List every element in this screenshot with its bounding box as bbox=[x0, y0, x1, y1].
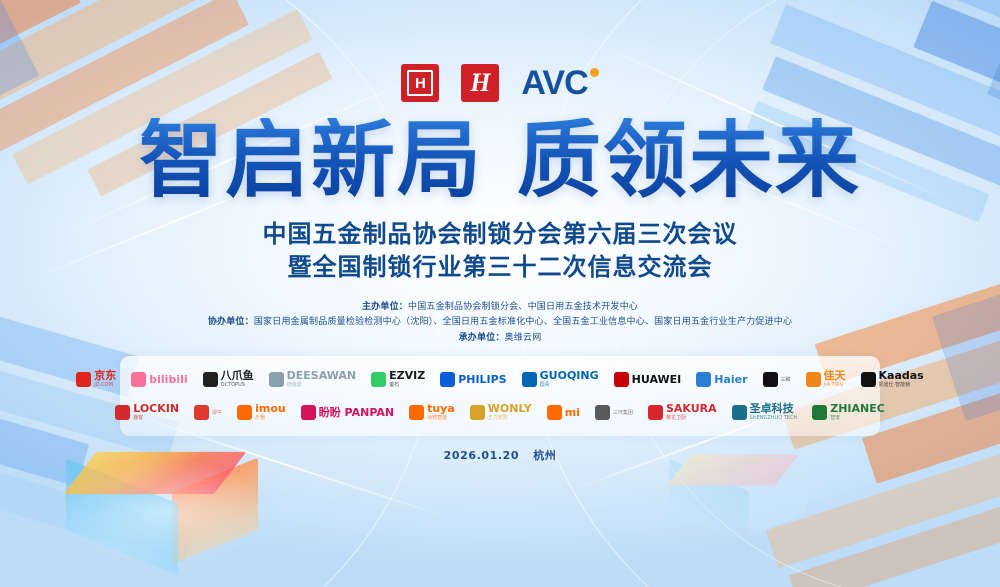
panpan-mark-icon bbox=[301, 405, 316, 420]
ximao-logo-text: 犀牛 bbox=[212, 409, 222, 416]
jiatian-logo-wordmark: 佳天 bbox=[824, 370, 846, 381]
haier-logo-wordmark: Haier bbox=[714, 374, 747, 385]
avc-logo-text: AVC bbox=[521, 66, 587, 100]
hardware-logo: H bbox=[461, 64, 499, 102]
lockin-logo-wordmark: LOCKIN bbox=[133, 403, 179, 414]
guoqing-logo-text: GUOQING国青 bbox=[540, 370, 599, 388]
sanhuan-logo-subtext: 三环集团 bbox=[613, 411, 633, 416]
huawei-logo-text: HUAWEI bbox=[632, 374, 682, 385]
lockin-logo-subtext: 鹿客 bbox=[133, 416, 179, 421]
shengzhuo-mark-icon bbox=[732, 405, 747, 420]
jiatian-logo-subtext: JIA TIAN bbox=[824, 383, 846, 388]
imou-logo-subtext: 乐橙 bbox=[255, 416, 286, 421]
poster-content: H AVC 智启新局质领未来 中国五金制品协会制锁分会第六届三次会议 暨全国制锁… bbox=[0, 0, 1000, 587]
jingdong-logo-text: 京东JD.COM bbox=[94, 370, 116, 388]
guoqing-logo-subtext: 国青 bbox=[540, 383, 599, 388]
panpan-logo-text: 盼盼 PANPAN bbox=[319, 407, 394, 418]
sanhuan-logo-text: 三环集团 bbox=[613, 409, 633, 416]
title-part-1: 智启新局 bbox=[139, 111, 483, 209]
organizer-coorg-line: 协办单位：国家日用金属制品质量检验检测中心（沈阳）、全国日用五金标准化中心、全国… bbox=[0, 315, 1000, 330]
organizer-coorg-label: 协办单位： bbox=[208, 317, 254, 327]
organizer-host-label: 主办单位： bbox=[362, 302, 408, 312]
zhianec-logo: ZHIANEC智安 bbox=[812, 403, 885, 421]
imou-logo-wordmark: imou bbox=[255, 403, 286, 414]
imou-logo-text: imou乐橙 bbox=[255, 403, 286, 421]
jingdong-logo-wordmark: 京东 bbox=[94, 370, 116, 381]
subtitle-line-1: 中国五金制品协会制锁分会第六届三次会议 bbox=[0, 218, 1000, 251]
ximao-logo: 犀牛 bbox=[194, 405, 222, 420]
ximao-mark-icon bbox=[194, 405, 209, 420]
philips-logo-text: PHILIPS bbox=[458, 374, 506, 385]
lockin-mark-icon bbox=[115, 405, 130, 420]
philips-mark-icon bbox=[440, 372, 455, 387]
tuya-logo-wordmark: tuya bbox=[427, 403, 455, 414]
deesawan-mark-icon bbox=[269, 372, 284, 387]
tuya-logo-text: tuya涂鸦智能 bbox=[427, 403, 455, 421]
wonly-logo-wordmark: WONLY bbox=[488, 403, 532, 414]
lockin-logo: LOCKIN鹿客 bbox=[115, 403, 179, 421]
ezviz-logo-wordmark: EZVIZ bbox=[389, 370, 425, 381]
huawei-logo: HUAWEI bbox=[614, 372, 682, 387]
page-subtitle: 中国五金制品协会制锁分会第六届三次会议 暨全国制锁行业第三十二次信息交流会 bbox=[0, 218, 1000, 284]
zhianec-mark-icon bbox=[812, 405, 827, 420]
tuya-mark-icon bbox=[409, 405, 424, 420]
tuya-logo-subtext: 涂鸦智能 bbox=[427, 416, 455, 421]
shengzhuo-logo-text: 圣卓科技SHENGZHUO TECH bbox=[750, 403, 798, 421]
guoqing-mark-icon bbox=[522, 372, 537, 387]
philips-logo: PHILIPS bbox=[440, 372, 506, 387]
bazhaoyu-logo-wordmark: 八爪鱼 bbox=[221, 370, 254, 381]
sponsor-row-1: 京东JD.COMbilibili八爪鱼OCTOPUSDEESAWAN德施曼EZV… bbox=[130, 364, 870, 394]
bilibili-logo-wordmark: bilibili bbox=[149, 374, 187, 385]
logo-bar: H AVC bbox=[0, 0, 1000, 102]
imou-mark-icon bbox=[237, 405, 252, 420]
sponsor-logo-panel: 京东JD.COMbilibili八爪鱼OCTOPUSDEESAWAN德施曼EZV… bbox=[120, 356, 880, 436]
poster-canvas: H AVC 智启新局质领未来 中国五金制品协会制锁分会第六届三次会议 暨全国制锁… bbox=[0, 0, 1000, 587]
wonly-logo: WONLY王力安防 bbox=[470, 403, 532, 421]
sanhe-mark-icon bbox=[763, 372, 778, 387]
xiaomi-logo-text: mi bbox=[565, 407, 580, 418]
lockin-logo-text: LOCKIN鹿客 bbox=[133, 403, 179, 421]
philips-logo-wordmark: PHILIPS bbox=[458, 374, 506, 385]
huawei-logo-wordmark: HUAWEI bbox=[632, 374, 682, 385]
ezviz-logo-subtext: 萤石 bbox=[389, 383, 425, 388]
kaadas-logo-text: Kaadas凯迪仕·智能锁 bbox=[879, 370, 924, 388]
haier-mark-icon bbox=[696, 372, 711, 387]
sakura-logo-subtext: 樱花卫厨 bbox=[666, 416, 717, 421]
page-title: 智启新局质领未来 bbox=[0, 118, 1000, 204]
bazhaoyu-logo-text: 八爪鱼OCTOPUS bbox=[221, 370, 254, 388]
organizer-coorg-value: 国家日用金属制品质量检验检测中心（沈阳）、全国日用五金标准化中心、全国五金工业信… bbox=[254, 317, 792, 327]
organizer-undertaker-line: 承办单位：奥维云网 bbox=[0, 331, 1000, 346]
bazhaoyu-mark-icon bbox=[203, 372, 218, 387]
organizer-host-value: 中国五金制品协会制锁分会、中国日用五金技术开发中心 bbox=[408, 302, 638, 312]
guoqing-logo: GUOQING国青 bbox=[522, 370, 599, 388]
subtitle-line-2: 暨全国制锁行业第三十二次信息交流会 bbox=[0, 251, 1000, 284]
haier-logo-text: Haier bbox=[714, 374, 747, 385]
jingdong-mark-icon bbox=[76, 372, 91, 387]
kaadas-logo-subtext: 凯迪仕·智能锁 bbox=[879, 383, 924, 388]
kaadas-mark-icon bbox=[861, 372, 876, 387]
haier-logo: Haier bbox=[696, 372, 747, 387]
sakura-logo-text: SAKURA樱花卫厨 bbox=[666, 403, 717, 421]
deesawan-logo-text: DEESAWAN德施曼 bbox=[287, 370, 356, 388]
sanhe-logo-text: 三和 bbox=[781, 376, 791, 383]
xiaomi-mark-icon bbox=[547, 405, 562, 420]
jiatian-mark-icon bbox=[806, 372, 821, 387]
organizer-host-line: 主办单位：中国五金制品协会制锁分会、中国日用五金技术开发中心 bbox=[0, 300, 1000, 315]
bazhaoyu-logo-subtext: OCTOPUS bbox=[221, 383, 254, 388]
bilibili-logo-text: bilibili bbox=[149, 374, 187, 385]
deesawan-logo-wordmark: DEESAWAN bbox=[287, 370, 356, 381]
event-date: 2026.01.20 bbox=[444, 449, 520, 462]
panpan-logo-wordmark: 盼盼 PANPAN bbox=[319, 407, 394, 418]
sakura-mark-icon bbox=[648, 405, 663, 420]
zhianec-logo-subtext: 智安 bbox=[830, 416, 885, 421]
zhianec-logo-text: ZHIANEC智安 bbox=[830, 403, 885, 421]
event-footer: 2026.01.20杭州 bbox=[0, 447, 1000, 463]
wonly-logo-text: WONLY王力安防 bbox=[488, 403, 532, 421]
organizer-undertaker-label: 承办单位： bbox=[459, 333, 505, 343]
bilibili-mark-icon bbox=[131, 372, 146, 387]
organizer-undertaker-value: 奥维云网 bbox=[505, 333, 542, 343]
guoqing-logo-wordmark: GUOQING bbox=[540, 370, 599, 381]
shengzhuo-logo: 圣卓科技SHENGZHUO TECH bbox=[732, 403, 798, 421]
kaadas-logo: Kaadas凯迪仕·智能锁 bbox=[861, 370, 924, 388]
shengzhuo-logo-subtext: SHENGZHUO TECH bbox=[750, 416, 798, 421]
ezviz-mark-icon bbox=[371, 372, 386, 387]
avc-logo-dot bbox=[590, 68, 599, 77]
sanhe-logo: 三和 bbox=[763, 372, 791, 387]
bilibili-logo: bilibili bbox=[131, 372, 187, 387]
deesawan-logo: DEESAWAN德施曼 bbox=[269, 370, 356, 388]
organizers-block: 主办单位：中国五金制品协会制锁分会、中国日用五金技术开发中心 协办单位：国家日用… bbox=[0, 300, 1000, 346]
deesawan-logo-subtext: 德施曼 bbox=[287, 383, 356, 388]
kaadas-logo-wordmark: Kaadas bbox=[879, 370, 924, 381]
jingdong-logo: 京东JD.COM bbox=[76, 370, 116, 388]
huawei-mark-icon bbox=[614, 372, 629, 387]
china-hardware-association-logo bbox=[401, 64, 439, 102]
wonly-mark-icon bbox=[470, 405, 485, 420]
ezviz-logo-text: EZVIZ萤石 bbox=[389, 370, 425, 388]
wonly-logo-subtext: 王力安防 bbox=[488, 416, 532, 421]
tuya-logo: tuya涂鸦智能 bbox=[409, 403, 455, 421]
sakura-logo: SAKURA樱花卫厨 bbox=[648, 403, 717, 421]
sanhuan-mark-icon bbox=[595, 405, 610, 420]
avc-logo: AVC bbox=[521, 66, 598, 100]
event-city: 杭州 bbox=[533, 449, 556, 462]
jingdong-logo-subtext: JD.COM bbox=[94, 383, 116, 388]
shengzhuo-logo-wordmark: 圣卓科技 bbox=[750, 403, 798, 414]
jiatian-logo-text: 佳天JIA TIAN bbox=[824, 370, 846, 388]
sanhe-logo-subtext: 三和 bbox=[781, 378, 791, 383]
bazhaoyu-logo: 八爪鱼OCTOPUS bbox=[203, 370, 254, 388]
sakura-logo-wordmark: SAKURA bbox=[666, 403, 717, 414]
ezviz-logo: EZVIZ萤石 bbox=[371, 370, 425, 388]
title-part-2: 质领未来 bbox=[517, 111, 861, 209]
panpan-logo: 盼盼 PANPAN bbox=[301, 405, 394, 420]
ximao-logo-subtext: 犀牛 bbox=[212, 411, 222, 416]
sponsor-row-2: LOCKIN鹿客犀牛imou乐橙盼盼 PANPANtuya涂鸦智能WONLY王力… bbox=[130, 397, 870, 427]
jiatian-logo: 佳天JIA TIAN bbox=[806, 370, 846, 388]
sanhuan-logo: 三环集团 bbox=[595, 405, 633, 420]
imou-logo: imou乐橙 bbox=[237, 403, 286, 421]
xiaomi-logo: mi bbox=[547, 405, 580, 420]
zhianec-logo-wordmark: ZHIANEC bbox=[830, 403, 885, 414]
xiaomi-logo-wordmark: mi bbox=[565, 407, 580, 418]
